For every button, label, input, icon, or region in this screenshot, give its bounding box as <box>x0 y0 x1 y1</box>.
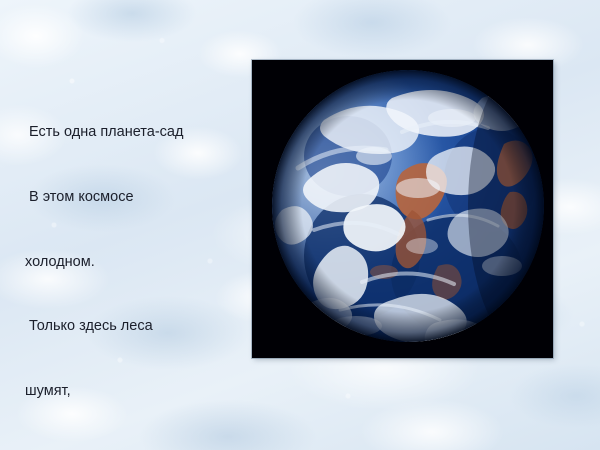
poem-line: Только здесь леса <box>25 316 240 338</box>
poem-line: шумят, <box>25 381 240 403</box>
poem-line: холодном. <box>25 252 240 274</box>
poem-line: В этом космосе <box>25 187 240 209</box>
earth-from-space-photo <box>252 60 553 358</box>
poem-stanza: Есть одна планета-сад В этом космосе хол… <box>25 79 240 450</box>
earth-image-frame <box>252 60 553 358</box>
slide-canvas: Есть одна планета-сад В этом космосе хол… <box>0 0 600 450</box>
poem-text-block: Есть одна планета-сад В этом космосе хол… <box>25 14 240 450</box>
poem-line: Птиц скликая <box>25 446 240 450</box>
poem-line: Есть одна планета-сад <box>25 122 240 144</box>
